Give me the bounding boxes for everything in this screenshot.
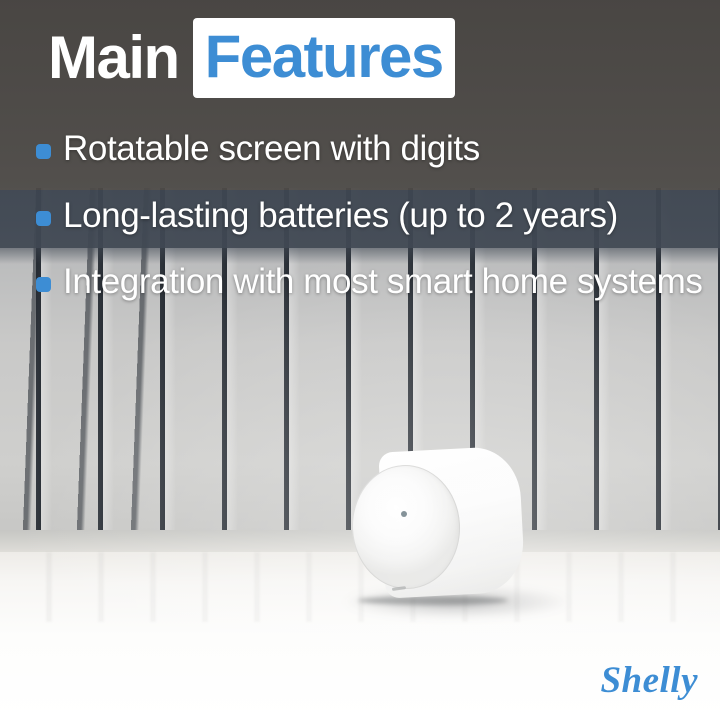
feature-poster: Main Features Rotatable screen with digi… (0, 0, 720, 720)
feature-list-item: Integration with most smart home systems (36, 261, 708, 304)
feature-list: Rotatable screen with digits Long-lastin… (36, 128, 708, 328)
feature-list-item-label: Integration with most smart home systems (63, 261, 703, 304)
feature-list-item-label: Rotatable screen with digits (63, 128, 480, 171)
bullet-square-icon (36, 211, 51, 226)
page-title: Main Features (48, 18, 455, 98)
shelly-brand-logo: Shelly (600, 659, 698, 702)
page-title-primary: Main (48, 28, 193, 88)
feature-list-item: Rotatable screen with digits (36, 128, 708, 171)
bullet-square-icon (36, 144, 51, 159)
page-title-highlight-box: Features (193, 18, 455, 98)
feature-list-item: Long-lasting batteries (up to 2 years) (36, 195, 708, 238)
feature-list-item-label: Long-lasting batteries (up to 2 years) (63, 195, 618, 238)
bullet-square-icon (36, 277, 51, 292)
page-title-accent: Features (205, 27, 443, 87)
